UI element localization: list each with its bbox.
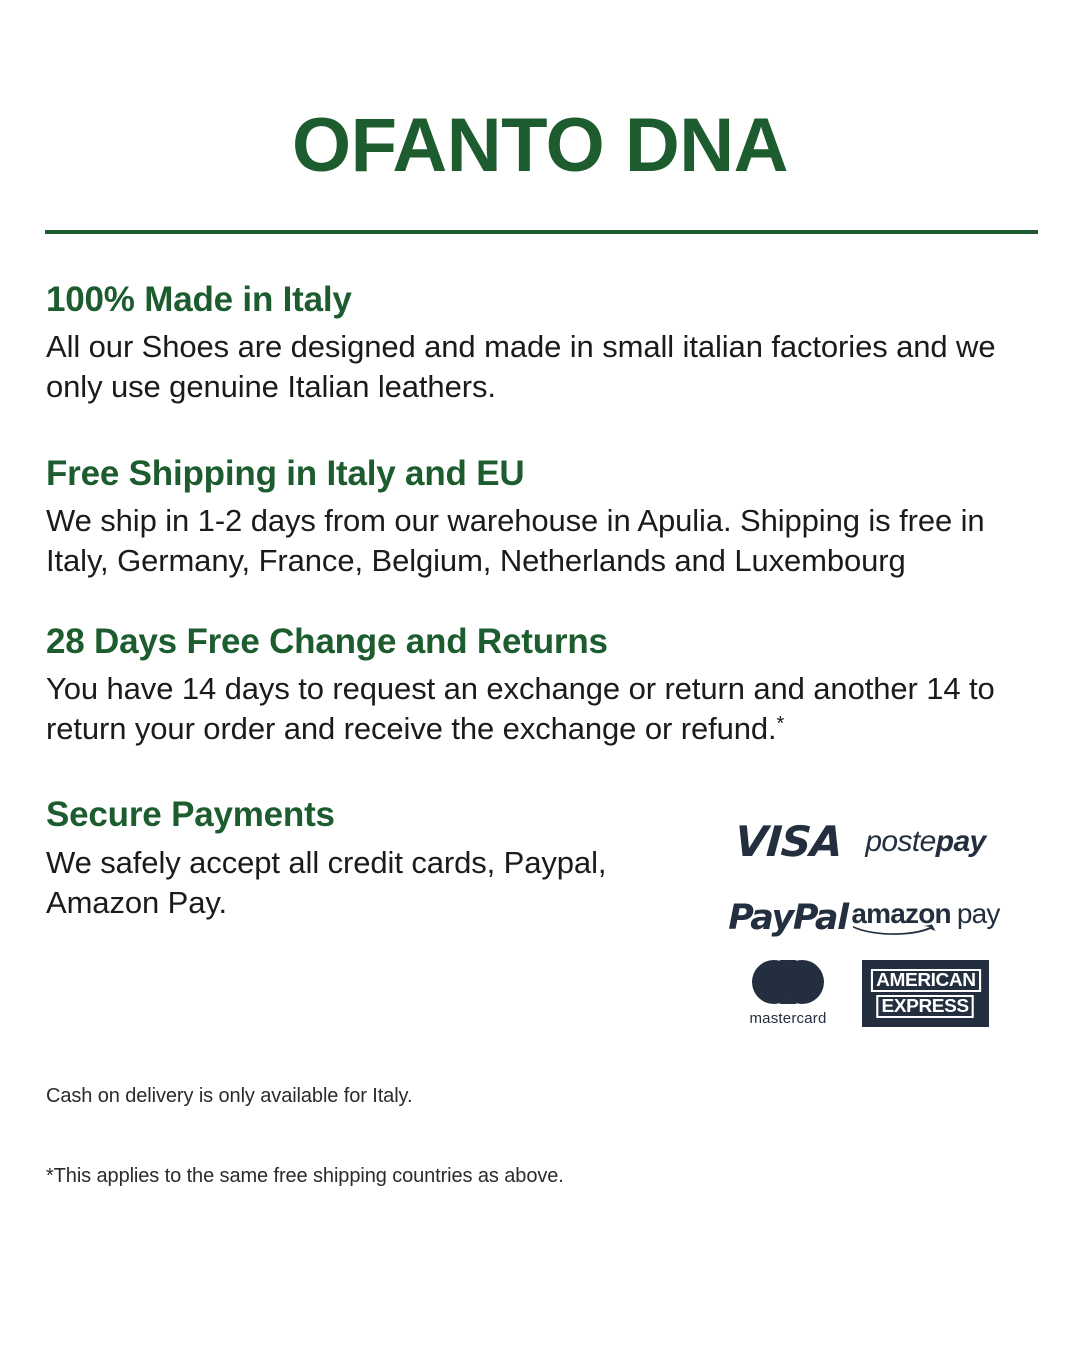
postepay-label-light: poste: [865, 827, 935, 857]
section-heading: 100% Made in Italy: [46, 280, 1035, 319]
amazon-swoosh-icon: [852, 924, 938, 936]
section-body-text: You have 14 days to request an exchange …: [46, 671, 995, 746]
section-heading: Free Shipping in Italy and EU: [46, 454, 1035, 493]
section-made-in-italy: 100% Made in Italy All our Shoes are des…: [46, 280, 1035, 408]
mastercard-circles: [752, 960, 824, 1004]
amex-line-express: EXPRESS: [877, 995, 975, 1018]
amex-line-american: AMERICAN: [870, 969, 980, 992]
visa-icon: VISA: [733, 821, 843, 863]
paypal-icon: PayPal: [728, 901, 847, 936]
section-body: We ship in 1-2 days from our warehouse i…: [46, 501, 1035, 582]
secure-payments-text: Secure Payments We safely accept all cre…: [46, 795, 686, 923]
section-free-shipping: Free Shipping in Italy and EU We ship in…: [46, 454, 1035, 582]
note-shipping-asterisk: *This applies to the same free shipping …: [0, 1163, 1080, 1189]
content-area: 100% Made in Italy All our Shoes are des…: [0, 280, 1080, 1031]
postepay-icon: postepay: [865, 827, 985, 857]
section-change-and-returns: 28 Days Free Change and Returns You have…: [46, 622, 1035, 750]
american-express-icon: AMERICAN EXPRESS: [862, 960, 989, 1027]
section-body: All our Shoes are designed and made in s…: [46, 327, 1035, 408]
page-title: OFANTO DNA: [0, 0, 1080, 184]
section-heading: 28 Days Free Change and Returns: [46, 622, 1035, 661]
note-cash-on-delivery: Cash on delivery is only available for I…: [0, 1083, 1080, 1109]
section-body: We safely accept all credit cards, Paypa…: [46, 843, 686, 924]
mastercard-label: mastercard: [749, 1011, 826, 1026]
amazon-pay-label: pay: [957, 900, 1000, 928]
postepay-label-bold: pay: [936, 827, 986, 857]
section-secure-payments: Secure Payments We safely accept all cre…: [46, 795, 1035, 1031]
mastercard-icon: mastercard: [749, 960, 826, 1026]
title-divider: [45, 230, 1038, 234]
amazon-pay-icon: amazonpay: [851, 900, 999, 936]
ofanto-dna-info-card: OFANTO DNA 100% Made in Italy All our Sh…: [0, 0, 1080, 1350]
section-heading: Secure Payments: [46, 795, 686, 834]
payment-logo-grid: VISA postepay PayPal amazonpay: [718, 803, 993, 1031]
footnote-marker: *: [777, 713, 785, 735]
mastercard-circle-overlap: [780, 960, 796, 1004]
section-body: You have 14 days to request an exchange …: [46, 669, 1035, 750]
